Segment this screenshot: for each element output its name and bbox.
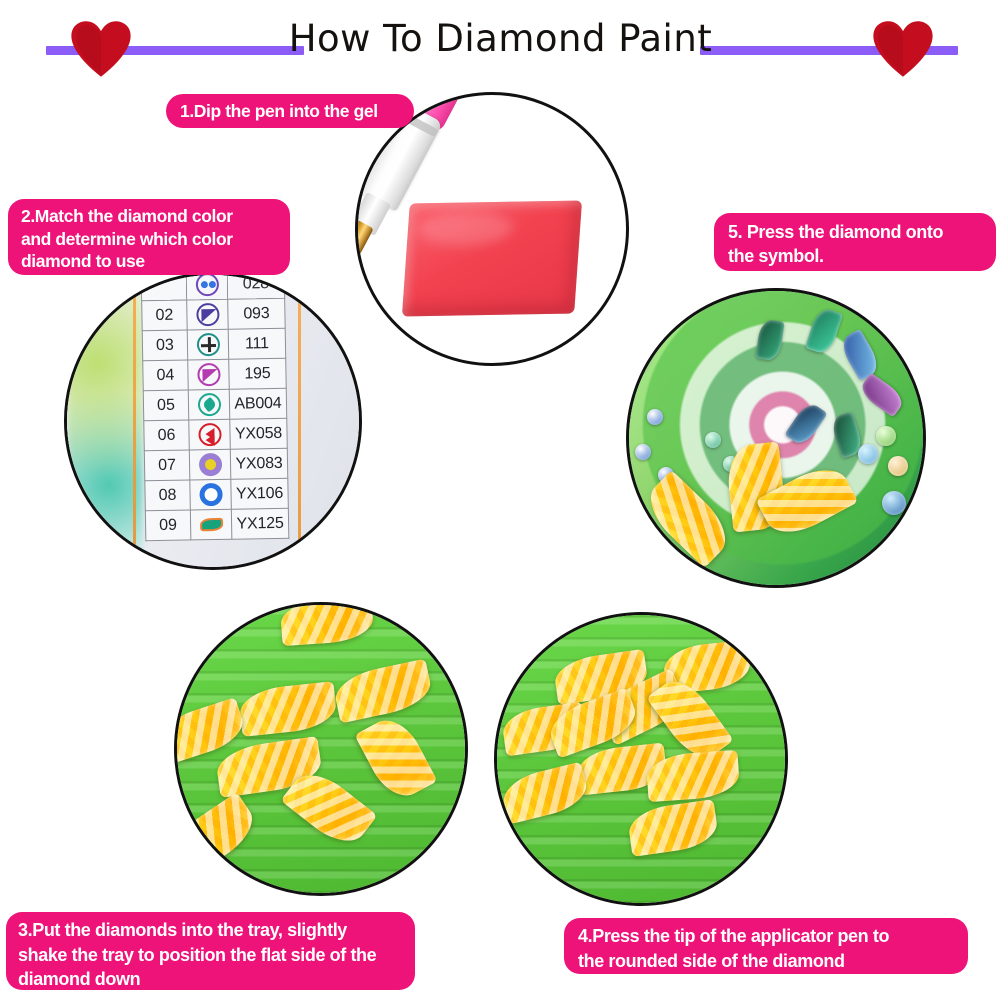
triangle-icon: [196, 303, 219, 326]
rhinestone-round: [888, 456, 908, 476]
chart-cell-code: 07: [144, 450, 190, 481]
chart-cell-name: YX125: [231, 508, 289, 539]
table-row: 028: [141, 272, 285, 301]
chart-cell-code: 05: [143, 390, 189, 421]
step-2-label-line-2: and determine which color: [21, 228, 277, 251]
chart-cell-name: YX058: [230, 418, 288, 449]
pen-dipping-scene: [358, 95, 626, 363]
rhinestone-round: [705, 432, 721, 448]
step-3-label-line-1: 3.Put the diamonds into the tray, slight…: [18, 918, 403, 943]
chart-cell-name: YX083: [230, 448, 288, 479]
chart-cell-code: 08: [145, 480, 191, 511]
chart-cell-name: 111: [228, 328, 286, 359]
rhinestone-round: [635, 444, 651, 460]
filled-circle-icon: [198, 453, 221, 476]
step-5-label-line-2: the symbol.: [728, 244, 982, 268]
chart-cell-name: AB004: [229, 388, 287, 419]
table-row: 04195: [143, 358, 287, 390]
chart-cell-name: YX106: [231, 478, 289, 509]
diamond-tray-scene: [177, 605, 465, 893]
table-row: 09YX125: [145, 508, 289, 540]
orange-guide-line-left: [133, 275, 136, 567]
chart-cell-symbol: [187, 299, 229, 330]
table-row: 03111: [142, 328, 286, 360]
step-5-label: 5. Press the diamond onto the symbol.: [714, 213, 996, 271]
chart-cell-code: 06: [144, 420, 190, 451]
step-2-label: 2.Match the diamond color and determine …: [8, 199, 290, 275]
chart-cell-symbol: [189, 449, 231, 480]
chart-cell-name: 028: [227, 272, 285, 299]
step-5-photo: [626, 288, 926, 588]
table-row: 08YX106: [145, 478, 289, 510]
step-2-photo: 02802093031110419505AB00406YX05807YX0830…: [64, 272, 362, 570]
chart-cell-code: 02: [142, 300, 188, 331]
plus-icon: [196, 333, 219, 356]
chart-cell-symbol: [190, 509, 232, 540]
step-5-label-line-1: 5. Press the diamond onto: [728, 220, 982, 244]
step-2-label-line-3: diamond to use: [21, 250, 277, 273]
step-4-label-line-1: 4.Press the tip of the applicator pen to: [578, 924, 954, 949]
chart-cell-code: 03: [142, 330, 188, 361]
chart-cell-symbol: [190, 479, 232, 510]
chart-cell-symbol: [186, 272, 228, 300]
step-4-label-line-2: the rounded side of the diamond: [578, 949, 954, 974]
chart-cell-code: 09: [145, 510, 191, 541]
triangle-icon: [197, 363, 220, 386]
chart-cell-symbol: [188, 359, 230, 390]
orange-guide-line-right: [298, 275, 301, 567]
mandala-canvas-scene: [629, 291, 923, 585]
double-dot-icon: [195, 273, 218, 296]
chart-cell-name: 093: [228, 298, 286, 329]
chart-cell-code: [141, 272, 187, 301]
table-row: 02093: [142, 298, 286, 330]
ring-icon: [199, 483, 222, 506]
pen-on-diamond-scene: [497, 615, 785, 903]
step-3-label-line-2: shake the tray to position the flat side…: [18, 943, 403, 968]
chart-cell-symbol: [189, 419, 231, 450]
table-row: 05AB004: [143, 388, 287, 420]
color-chart-scene: 02802093031110419505AB00406YX05807YX0830…: [67, 275, 359, 567]
canvas-blur-region: [67, 275, 143, 567]
header: How To Diamond Paint: [0, 0, 1001, 80]
chart-cell-name: 195: [229, 358, 287, 389]
gel-pad: [402, 201, 582, 317]
chevron-left-icon: [198, 423, 221, 446]
color-symbol-table: 02802093031110419505AB00406YX05807YX0830…: [141, 272, 290, 541]
chart-cell-symbol: [187, 329, 229, 360]
step-3-label: 3.Put the diamonds into the tray, slight…: [6, 912, 415, 990]
rhinestone-round: [647, 409, 663, 425]
rhinestone-round: [858, 444, 878, 464]
step-4-photo: [494, 612, 788, 906]
step-4-label: 4.Press the tip of the applicator pen to…: [564, 918, 968, 974]
table-row: 06YX058: [144, 418, 288, 450]
chart-cell-code: 04: [143, 360, 189, 391]
step-1-label-line-1: 1.Dip the pen into the gel: [180, 100, 400, 122]
table-row: 07YX083: [144, 448, 288, 480]
page-title: How To Diamond Paint: [0, 16, 1001, 62]
leaf-icon: [199, 513, 222, 536]
chart-cell-symbol: [188, 389, 230, 420]
rhinestone-round: [876, 426, 896, 446]
step-3-photo: [174, 602, 468, 896]
step-1-photo: [355, 92, 629, 366]
rhinestone-round: [882, 491, 906, 515]
infographic-canvas: How To Diamond Paint 1.Dip the pen into …: [0, 0, 1001, 1001]
step-1-label: 1.Dip the pen into the gel: [166, 94, 414, 128]
pen-tip-icon: [355, 220, 374, 266]
step-2-label-line-1: 2.Match the diamond color: [21, 205, 277, 228]
slash-oval-icon: [197, 393, 220, 416]
step-3-label-line-3: diamond down: [18, 967, 403, 992]
